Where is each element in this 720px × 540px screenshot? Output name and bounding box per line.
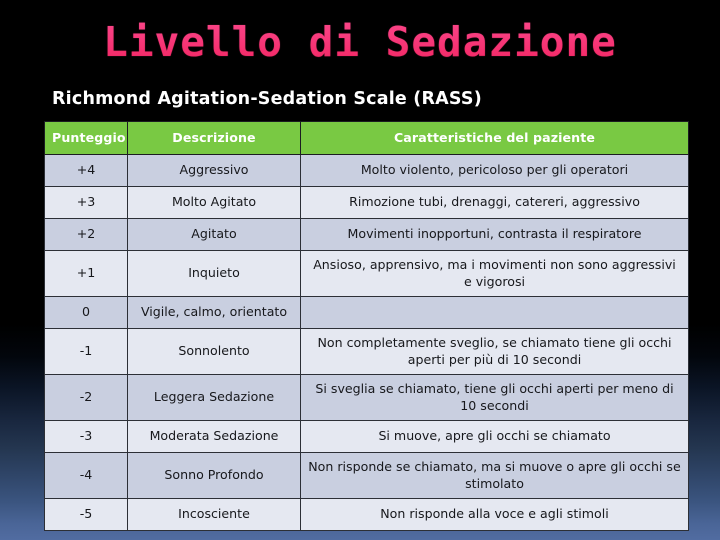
cell-descrizione: Molto Agitato bbox=[128, 187, 301, 219]
cell-punteggio: 0 bbox=[45, 297, 128, 329]
cell-punteggio: -3 bbox=[45, 421, 128, 453]
slide-canvas: Livello di Sedazione Richmond Agitation-… bbox=[0, 0, 720, 540]
table-body: +4 Aggressivo Molto violento, pericoloso… bbox=[45, 155, 689, 531]
table-row: 0 Vigile, calmo, orientato bbox=[45, 297, 689, 329]
cell-punteggio: +1 bbox=[45, 251, 128, 297]
cell-caratteristiche: Movimenti inopportuni, contrasta il resp… bbox=[301, 219, 689, 251]
slide-title: Livello di Sedazione bbox=[0, 20, 720, 65]
table-row: -4 Sonno Profondo Non risponde se chiama… bbox=[45, 453, 689, 499]
cell-descrizione: Inquieto bbox=[128, 251, 301, 297]
column-header-descrizione: Descrizione bbox=[128, 122, 301, 155]
table-row: -2 Leggera Sedazione Si sveglia se chiam… bbox=[45, 375, 689, 421]
cell-descrizione: Agitato bbox=[128, 219, 301, 251]
table-row: +4 Aggressivo Molto violento, pericoloso… bbox=[45, 155, 689, 187]
column-header-caratteristiche: Caratteristiche del paziente bbox=[301, 122, 689, 155]
cell-punteggio: -2 bbox=[45, 375, 128, 421]
cell-descrizione: Aggressivo bbox=[128, 155, 301, 187]
cell-punteggio: -1 bbox=[45, 329, 128, 375]
cell-caratteristiche: Molto violento, pericoloso per gli opera… bbox=[301, 155, 689, 187]
table-row: +2 Agitato Movimenti inopportuni, contra… bbox=[45, 219, 689, 251]
table-header: Punteggio Descrizione Caratteristiche de… bbox=[45, 122, 689, 155]
cell-descrizione: Leggera Sedazione bbox=[128, 375, 301, 421]
cell-punteggio: -4 bbox=[45, 453, 128, 499]
table-row: -5 Incosciente Non risponde alla voce e … bbox=[45, 499, 689, 531]
table-header-row: Punteggio Descrizione Caratteristiche de… bbox=[45, 122, 689, 155]
column-header-punteggio: Punteggio bbox=[45, 122, 128, 155]
cell-descrizione: Sonnolento bbox=[128, 329, 301, 375]
cell-caratteristiche bbox=[301, 297, 689, 329]
table-row: +1 Inquieto Ansioso, apprensivo, ma i mo… bbox=[45, 251, 689, 297]
slide-subtitle: Richmond Agitation-Sedation Scale (RASS) bbox=[52, 89, 482, 109]
table-row: -1 Sonnolento Non completamente sveglio,… bbox=[45, 329, 689, 375]
cell-descrizione: Moderata Sedazione bbox=[128, 421, 301, 453]
cell-caratteristiche: Si muove, apre gli occhi se chiamato bbox=[301, 421, 689, 453]
cell-descrizione: Vigile, calmo, orientato bbox=[128, 297, 301, 329]
cell-descrizione: Sonno Profondo bbox=[128, 453, 301, 499]
table-row: +3 Molto Agitato Rimozione tubi, drenagg… bbox=[45, 187, 689, 219]
cell-caratteristiche: Non risponde alla voce e agli stimoli bbox=[301, 499, 689, 531]
cell-caratteristiche: Ansioso, apprensivo, ma i movimenti non … bbox=[301, 251, 689, 297]
cell-caratteristiche: Non risponde se chiamato, ma si muove o … bbox=[301, 453, 689, 499]
cell-caratteristiche: Si sveglia se chiamato, tiene gli occhi … bbox=[301, 375, 689, 421]
cell-punteggio: +3 bbox=[45, 187, 128, 219]
cell-punteggio: +2 bbox=[45, 219, 128, 251]
rass-table: Punteggio Descrizione Caratteristiche de… bbox=[44, 121, 689, 531]
table-row: -3 Moderata Sedazione Si muove, apre gli… bbox=[45, 421, 689, 453]
cell-punteggio: +4 bbox=[45, 155, 128, 187]
cell-caratteristiche: Non completamente sveglio, se chiamato t… bbox=[301, 329, 689, 375]
cell-punteggio: -5 bbox=[45, 499, 128, 531]
cell-descrizione: Incosciente bbox=[128, 499, 301, 531]
cell-caratteristiche: Rimozione tubi, drenaggi, catereri, aggr… bbox=[301, 187, 689, 219]
